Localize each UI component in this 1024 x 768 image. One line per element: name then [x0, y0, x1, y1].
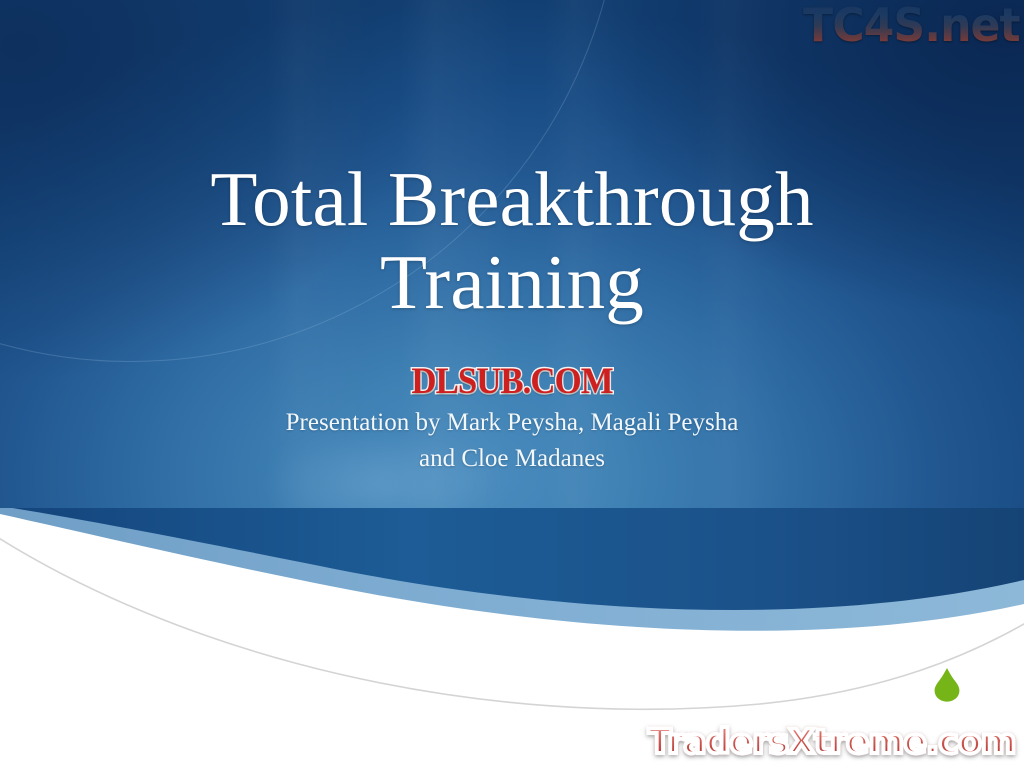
- presentation-title-slide: Total Breakthrough Training Presentation…: [0, 0, 1024, 768]
- slide-title: Total Breakthrough Training: [92, 158, 932, 324]
- slide-content: Total Breakthrough Training Presentation…: [0, 0, 1024, 768]
- slide-subtitle-line-1: Presentation by Mark Peysha, Magali Peys…: [152, 405, 872, 441]
- watermark-tc4s: TC4S.net: [803, 0, 1020, 52]
- slide-subtitle: Presentation by Mark Peysha, Magali Peys…: [152, 405, 872, 476]
- slide-title-line-1: Total Breakthrough: [92, 158, 932, 241]
- watermark-dlsub: DLSUB.COM: [31, 360, 994, 403]
- slide-subtitle-line-2: and Cloe Madanes: [152, 441, 872, 477]
- green-droplet-icon: [934, 668, 960, 702]
- watermark-tradersxtreme: TradersXtreme.com: [648, 722, 1016, 762]
- slide-title-line-2: Training: [92, 241, 932, 324]
